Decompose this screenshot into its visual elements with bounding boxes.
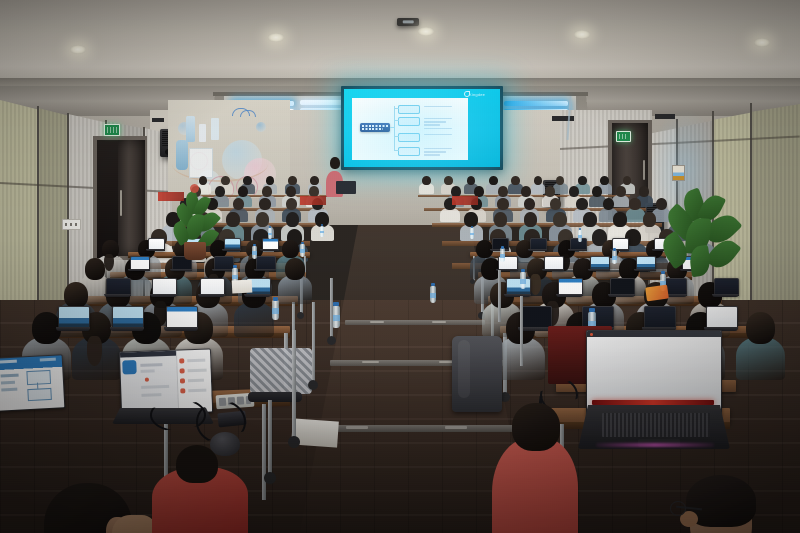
bottle-label	[320, 231, 324, 234]
slide-connector	[394, 108, 399, 109]
laptop-base[interactable]	[164, 327, 198, 331]
floor-cable-channel	[305, 425, 530, 432]
laptop-screen	[201, 279, 224, 295]
bottle-label	[332, 315, 340, 321]
water-bottle	[300, 244, 305, 257]
bottle-cap	[253, 244, 257, 246]
chair-leg	[330, 278, 333, 340]
attendee-head	[578, 176, 587, 185]
attendee-head	[286, 212, 300, 227]
attendee-torso	[553, 183, 568, 194]
chair-leg	[312, 302, 315, 384]
laptop-base[interactable]	[222, 249, 241, 251]
bottle-label	[520, 279, 526, 283]
laptop-screen	[507, 279, 530, 295]
laptop-base[interactable]	[712, 294, 739, 297]
attendee-head	[639, 186, 649, 197]
attendee-head	[592, 186, 602, 197]
laptop-screen	[707, 307, 737, 328]
speaker-bracket	[152, 118, 164, 122]
bottle-cap	[521, 269, 525, 272]
door-handle-left[interactable]	[120, 190, 122, 216]
attendee-ponytail	[530, 274, 541, 295]
potted-plant-right	[664, 190, 750, 286]
exit-sign-right	[616, 131, 631, 142]
laptop-screen	[59, 307, 89, 328]
attendee-head	[511, 176, 520, 185]
projection-screen[interactable]: Kingdee	[344, 89, 500, 167]
attendee-head	[285, 258, 305, 280]
attendee-head	[238, 186, 248, 197]
desk-leg	[262, 404, 266, 500]
attendee-head	[524, 212, 538, 227]
laptop-base[interactable]	[568, 249, 587, 251]
attendee-ponytail	[87, 336, 103, 366]
attendee-head	[494, 212, 508, 227]
laptop-base[interactable]	[244, 294, 271, 297]
attendee-head	[464, 212, 478, 227]
bottle-cap	[471, 226, 474, 228]
attendee-head	[310, 176, 319, 185]
attendee-head	[569, 186, 579, 197]
desk-caster	[297, 312, 304, 319]
laptop-screen	[611, 279, 634, 295]
bottle-label	[232, 275, 238, 279]
laptop-base[interactable]	[170, 269, 192, 271]
laptop-screen-blue-app	[0, 355, 64, 410]
laptop-base[interactable]	[128, 269, 150, 271]
laptop-base[interactable]	[146, 249, 165, 251]
classroom-photo: Kingdee	[0, 0, 800, 533]
mural-motif	[176, 140, 188, 170]
laptop-base[interactable]	[634, 269, 656, 271]
bottle-label	[430, 293, 436, 297]
attendee-laptop[interactable]	[58, 306, 90, 329]
speaker-bracket	[655, 114, 675, 119]
attendee-head	[524, 198, 535, 210]
laptop-base[interactable]	[254, 269, 276, 271]
chair-leg	[520, 296, 523, 366]
laptop-base[interactable]	[104, 294, 131, 297]
ceiling-downlight	[268, 33, 284, 42]
mural-motif	[199, 124, 206, 142]
laptop-base[interactable]	[150, 294, 177, 297]
attendee-head	[288, 176, 297, 185]
chair-leg	[498, 270, 501, 322]
bottle-label	[578, 235, 582, 238]
attendee-torso	[531, 183, 546, 194]
attendee-head	[256, 212, 270, 227]
laptop-base[interactable]	[260, 249, 279, 251]
laptop-screen	[645, 307, 675, 328]
bottle-label	[470, 233, 474, 236]
chair-caster	[327, 336, 336, 345]
laptop-base[interactable]	[518, 327, 552, 331]
laptop-base[interactable]	[56, 327, 90, 331]
laptop-base[interactable]	[212, 269, 234, 271]
ceiling-outer-panel	[0, 0, 800, 86]
bottle-cap	[431, 283, 435, 286]
foreground-laptop-farleft[interactable]	[0, 354, 65, 411]
water-bottle	[430, 286, 436, 303]
attendee-head	[534, 176, 543, 185]
laptop-screen	[521, 307, 551, 328]
slide-connector	[394, 136, 399, 137]
water-bottle	[320, 226, 324, 237]
chair-leg	[268, 400, 272, 476]
mural-circle	[256, 122, 266, 132]
attendee-head	[286, 198, 297, 210]
bottle-label	[252, 251, 257, 254]
mural-motif	[189, 148, 213, 178]
water-bottle	[520, 272, 526, 289]
bottle-label	[268, 233, 272, 236]
attendee-torso	[440, 208, 459, 222]
bottle-cap	[613, 248, 617, 251]
water-bottle	[272, 300, 279, 320]
laptop-screen	[167, 307, 197, 328]
attendee-head	[545, 186, 555, 197]
bottle-label	[272, 308, 279, 313]
attendee-head	[286, 186, 296, 197]
attendee-torso	[626, 208, 645, 222]
attendee-laptop[interactable]	[520, 306, 552, 329]
laptop-base[interactable]	[588, 269, 610, 271]
wall-notice	[672, 165, 685, 181]
slide-text-line	[424, 128, 452, 129]
slide-branch-node	[398, 133, 420, 142]
attendee-ponytail	[104, 254, 113, 272]
ceiling-downlight	[754, 38, 770, 47]
attendee-head	[64, 282, 88, 308]
door-handle-right[interactable]	[643, 160, 645, 180]
attendee-head	[467, 176, 476, 185]
attendee-head	[233, 198, 244, 210]
laptop-screen	[113, 307, 143, 328]
bottle-cap	[321, 224, 324, 226]
slide-branch-node	[398, 147, 420, 156]
bottle-cap	[273, 297, 278, 301]
attendee-head	[422, 176, 431, 185]
mural-motif	[240, 110, 256, 117]
attendee-head	[221, 176, 230, 185]
attendee-head	[643, 212, 657, 227]
slide-text-line	[424, 154, 440, 155]
presenter-monitor	[336, 181, 356, 194]
attendee-head	[629, 198, 640, 210]
backpack-strap	[458, 340, 470, 398]
speaker-bracket	[552, 116, 574, 121]
slide-text-line	[424, 124, 440, 125]
slide-branch-node	[398, 105, 420, 114]
slide-connector	[394, 120, 399, 121]
laptop-base[interactable]	[542, 269, 564, 271]
bottle-cap	[579, 228, 582, 230]
bottle-cap	[501, 246, 505, 249]
attendee-head	[85, 258, 105, 280]
floor-cable-channel	[345, 320, 485, 325]
attendee-head	[259, 198, 270, 210]
ceiling-downlight	[70, 45, 86, 54]
water-bottle	[612, 250, 617, 264]
attendee-head	[600, 176, 609, 185]
ceiling-downlight	[418, 27, 434, 36]
attendee-laptop[interactable]	[166, 306, 198, 329]
laptop-screen	[107, 279, 130, 295]
slide-connector	[394, 150, 399, 151]
chair-caster	[264, 472, 276, 484]
slide-text-line	[424, 151, 446, 152]
attendee-head	[616, 186, 626, 197]
laptop-base[interactable]	[110, 327, 144, 331]
attendee-head	[444, 176, 453, 185]
laptop-base[interactable]	[198, 294, 225, 297]
checkered-trousers	[250, 348, 312, 394]
laptop-screen	[153, 279, 176, 295]
water-bottle	[500, 248, 505, 262]
attendee-laptop[interactable]	[112, 306, 144, 329]
water-bottle	[578, 230, 582, 242]
mural-motif	[186, 116, 195, 142]
attendee-head	[243, 176, 252, 185]
attendee-head	[498, 186, 508, 197]
laptop-screen	[559, 279, 582, 295]
chair-caster	[308, 380, 318, 390]
water-bottle	[252, 246, 257, 259]
chair-leg	[292, 330, 296, 440]
bottle-cap	[233, 265, 237, 268]
paper-sheet	[232, 279, 253, 293]
mural-motif	[211, 118, 219, 140]
bottle-cap	[301, 242, 305, 244]
attendee-head	[521, 186, 531, 197]
wall-banner	[300, 196, 326, 205]
slide-main-node	[360, 123, 390, 132]
bottle-cap	[589, 308, 595, 312]
attendee-head	[553, 212, 567, 227]
attendee-head	[746, 312, 775, 344]
water-bottle	[268, 228, 272, 239]
attendee-head	[489, 176, 498, 185]
bottle-label	[500, 254, 505, 258]
laptop-underglow	[596, 443, 714, 447]
attendee-head	[576, 198, 587, 210]
laptop-light-bar	[592, 400, 714, 405]
laptop-base[interactable]	[556, 294, 583, 297]
ceiling-downlight	[574, 30, 590, 39]
door-left-panel[interactable]	[118, 140, 145, 256]
wall-banner	[452, 196, 478, 205]
laptop-base[interactable]	[504, 294, 531, 297]
attendee-laptop[interactable]	[706, 306, 738, 329]
attendee-head	[282, 240, 299, 258]
bottle-label	[612, 256, 617, 260]
attendee-head	[497, 198, 508, 210]
ceiling-light-strip	[504, 101, 568, 106]
potted-plant-left	[172, 192, 224, 262]
attendee-laptop[interactable]	[644, 306, 676, 329]
laptop-base[interactable]	[608, 294, 635, 297]
exit-sign-left	[104, 124, 120, 136]
slide-text-line	[424, 121, 446, 122]
chair-caster	[288, 436, 300, 448]
attendee-head	[262, 186, 272, 197]
water-bottle	[332, 306, 340, 328]
attendee-head	[613, 212, 627, 227]
ceiling-projector-upper	[397, 18, 419, 26]
attendee-torso	[419, 183, 434, 194]
slide-logo: Kingdee	[469, 92, 485, 97]
attendee-head	[583, 212, 597, 227]
bottle-label	[300, 249, 305, 252]
attendee-head	[226, 212, 240, 227]
slide-branch-node	[398, 117, 420, 126]
laptop-base[interactable]	[528, 249, 547, 251]
bottle-cap	[269, 226, 272, 228]
presenter-head	[330, 157, 340, 169]
wall-outlet[interactable]	[62, 219, 81, 230]
bottle-cap	[333, 302, 339, 306]
water-bottle	[470, 228, 474, 239]
